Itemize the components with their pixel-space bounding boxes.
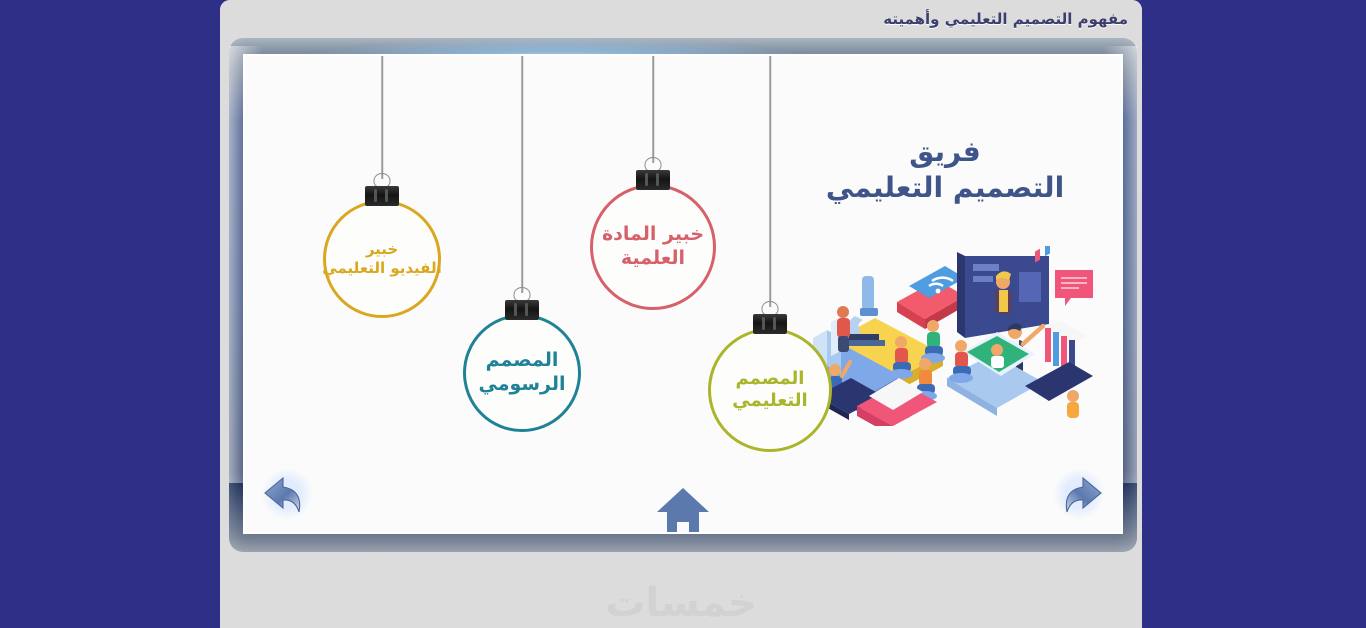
home-button[interactable] xyxy=(655,484,711,534)
ornament-label-line-1: خبير المادة xyxy=(602,223,704,247)
binder-clip-icon xyxy=(505,300,539,320)
ornament-label-line-2: الفيديو التعليمي xyxy=(322,259,441,278)
ornament-circle-video-expert[interactable]: خبيرالفيديو التعليمي xyxy=(323,200,441,318)
team-heading-line-2: التصميم التعليمي xyxy=(795,170,1095,206)
slide-frame: خبيرالفيديو التعليميالمصممالرسوميخبير ال… xyxy=(229,38,1137,552)
ornament-label-line-1: خبير xyxy=(366,240,398,259)
binder-clip-icon xyxy=(636,170,670,190)
team-heading: فريق التصميم التعليمي xyxy=(795,134,1095,207)
page-title: مفهوم التصميم التعليمي وأهميته xyxy=(883,10,1128,28)
previous-slide-button[interactable] xyxy=(259,466,315,522)
ornament-label-line-1: المصمم xyxy=(486,349,559,373)
ornament-string xyxy=(521,56,523,293)
ornament-label-line-2: التعليمي xyxy=(732,390,807,413)
ornament-label-line-2: الرسومي xyxy=(478,373,565,397)
isometric-elearning-illustration xyxy=(797,246,1097,426)
viewer-header: مفهوم التصميم التعليمي وأهميته xyxy=(220,0,1142,38)
watermark-text: خمسات xyxy=(220,580,1142,626)
ornament-string xyxy=(652,56,654,163)
binder-clip-icon xyxy=(753,314,787,334)
ornament-circle-subject-matter-expert[interactable]: خبير المادةالعلمية xyxy=(590,184,716,310)
team-heading-line-1: فريق xyxy=(795,134,1095,170)
arrow-forward-icon xyxy=(1051,466,1107,522)
home-icon xyxy=(655,484,711,534)
slide-canvas: خبيرالفيديو التعليميالمصممالرسوميخبير ال… xyxy=(243,54,1123,534)
binder-clip-icon xyxy=(365,186,399,206)
ornament-circle-instructional-designer[interactable]: المصممالتعليمي xyxy=(708,328,832,452)
ornament-string xyxy=(381,56,383,179)
ornament-string xyxy=(769,56,771,307)
ornament-label-line-2: العلمية xyxy=(621,247,685,271)
next-slide-button[interactable] xyxy=(1051,466,1107,522)
ornament-circle-graphic-designer[interactable]: المصممالرسومي xyxy=(463,314,581,432)
document-viewer-card: مفهوم التصميم التعليمي وأهميته خبيرالفيد… xyxy=(220,0,1142,628)
arrow-back-icon xyxy=(259,466,315,522)
ornament-label-line-1: المصمم xyxy=(736,368,805,391)
